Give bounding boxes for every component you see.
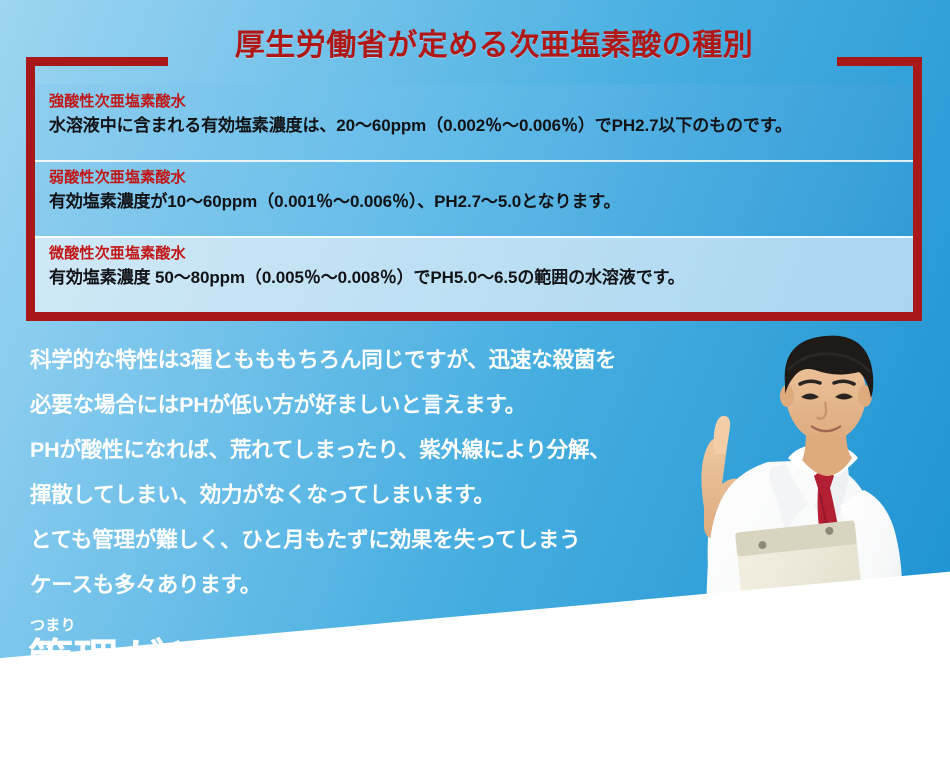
- conclusion-lead-in: つまり: [30, 614, 76, 635]
- frame-border-right: [913, 57, 922, 321]
- list-item-strong-acidic: 強酸性次亜塩素酸水 水溶液中に含まれる有効塩素濃度は、20〜60ppm（0.00…: [35, 84, 913, 160]
- list-item-weak-acidic: 弱酸性次亜塩素酸水 有効塩素濃度が10〜60ppm（0.001％〜0.006％）…: [35, 160, 913, 236]
- bottom-white-strip: [0, 718, 950, 760]
- body-copy: 科学的な特性は3種ともももちろん同じですが、迅速な殺菌を 必要な場合にはPHが低…: [30, 338, 690, 608]
- poster-canvas: 厚生労働省が定める次亜塩素酸の種別 強酸性次亜塩素酸水 水溶液中に含まれる有効塩…: [0, 0, 950, 760]
- block-title: 強酸性次亜塩素酸水: [49, 91, 903, 114]
- body-line: 揮散してしまい、効力がなくなってしまいます。: [30, 473, 690, 518]
- body-line: 必要な場合にはPHが低い方が好ましいと言えます。: [30, 383, 690, 428]
- block-title: 微酸性次亜塩素酸水: [49, 243, 903, 266]
- head: [780, 336, 873, 442]
- body-line: 科学的な特性は3種ともももちろん同じですが、迅速な殺菌を: [30, 338, 690, 383]
- body-line: ケースも多々あります。: [30, 563, 690, 608]
- frame-border-left: [26, 57, 35, 321]
- body-line: とても管理が難しく、ひと月もたずに効果を失ってしまう: [30, 518, 690, 563]
- block-description: 有効塩素濃度 50〜80ppm（0.005％〜0.008％）でPH5.0〜6.5…: [49, 266, 903, 291]
- chlorine-type-list: 強酸性次亜塩素酸水 水溶液中に含まれる有効塩素濃度は、20〜60ppm（0.00…: [35, 84, 913, 312]
- ministry-standards-frame: 厚生労働省が定める次亜塩素酸の種別 強酸性次亜塩素酸水 水溶液中に含まれる有効塩…: [26, 57, 922, 321]
- block-description: 水溶液中に含まれる有効塩素濃度は、20〜60ppm（0.002％〜0.006％）…: [49, 114, 903, 139]
- list-item-slightly-acidic: 微酸性次亜塩素酸水 有効塩素濃度 50〜80ppm（0.005％〜0.008％）…: [35, 236, 913, 312]
- frame-title: 厚生労働省が定める次亜塩素酸の種別: [144, 29, 844, 64]
- body-line: PHが酸性になれば、荒れてしまったり、紫外線により分解、: [30, 428, 690, 473]
- frame-border-top-right: [837, 57, 922, 66]
- block-title: 弱酸性次亜塩素酸水: [49, 167, 903, 190]
- block-description: 有効塩素濃度が10〜60ppm（0.001％〜0.006％）、PH2.7〜5.0…: [49, 190, 903, 215]
